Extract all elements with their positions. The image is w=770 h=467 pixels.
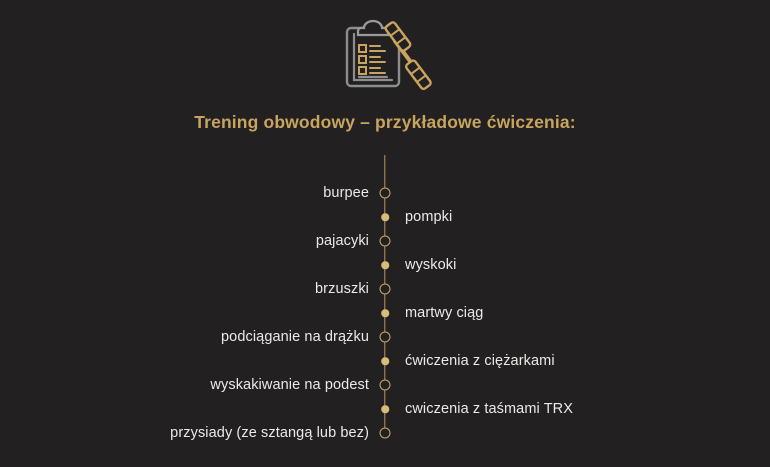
timeline-marker-hollow-icon: [380, 284, 391, 295]
timeline-marker-filled-icon: [381, 261, 389, 269]
timeline-marker-filled-icon: [381, 357, 389, 365]
timeline-marker-hollow-icon: [380, 188, 391, 199]
exercise-label: burpee: [323, 185, 369, 201]
timeline-marker-hollow-icon: [380, 332, 391, 343]
exercise-timeline: burpeepompkipajacykiwyskokibrzuszkimartw…: [0, 0, 770, 467]
exercise-label: brzuszki: [315, 281, 369, 297]
timeline-marker-hollow-icon: [380, 428, 391, 439]
exercise-label: pajacyki: [316, 233, 369, 249]
timeline-marker-filled-icon: [381, 213, 389, 221]
timeline-marker-filled-icon: [381, 309, 389, 317]
exercise-label: cwiczenia z taśmami TRX: [405, 401, 573, 417]
timeline-marker-hollow-icon: [380, 380, 391, 391]
exercise-label: wyskoki: [405, 257, 456, 273]
timeline-marker-filled-icon: [381, 405, 389, 413]
exercise-label: pompki: [405, 209, 452, 225]
exercise-label: przysiady (ze sztangą lub bez): [170, 425, 369, 441]
exercise-label: martwy ciąg: [405, 305, 483, 321]
timeline-marker-hollow-icon: [380, 236, 391, 247]
exercise-label: ćwiczenia z ciężarkami: [405, 353, 555, 369]
exercise-label: podciąganie na drążku: [221, 329, 369, 345]
exercise-label: wyskakiwanie na podest: [210, 377, 369, 393]
